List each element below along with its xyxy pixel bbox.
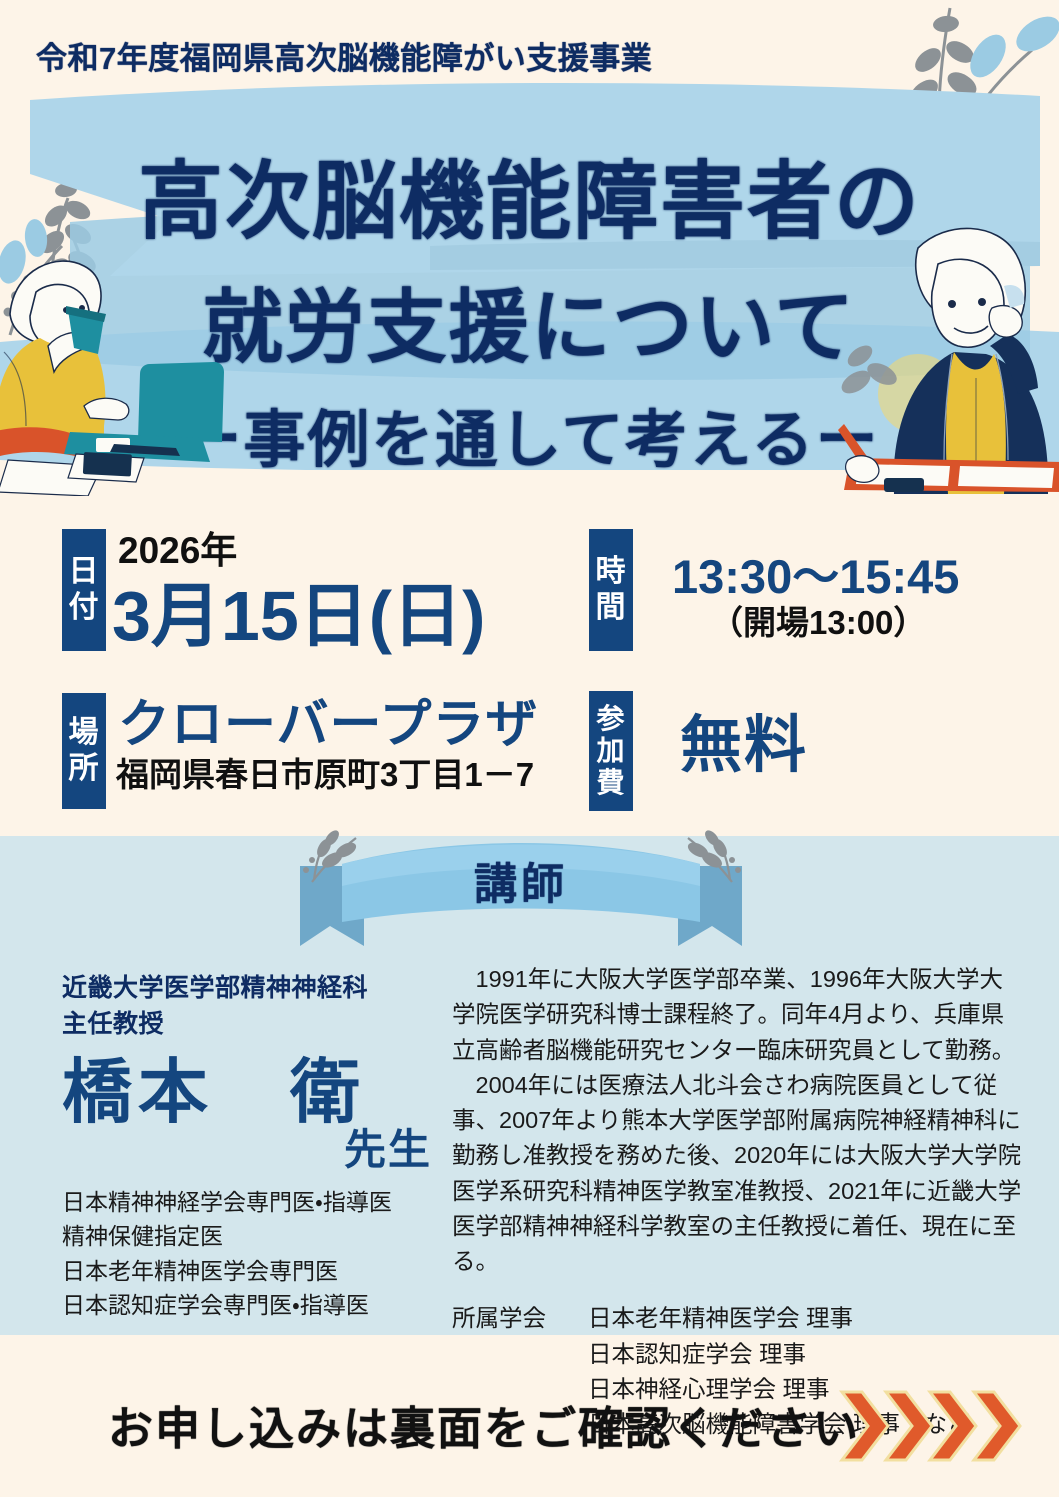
title-line-3: ー事例を通して考えるー	[0, 410, 1059, 472]
time-open: （開場13:00）	[710, 606, 926, 639]
poster-root: 令和7年度福岡県高次脳機能障がい支援事業 高次脳機能障害者の 就労支援について …	[0, 0, 1059, 1497]
date-tag: 日 付	[62, 529, 106, 651]
qualification-item: 日本認知症学会専門医・指導医	[62, 1288, 462, 1323]
lecturer-honorific: 先生	[62, 1129, 432, 1171]
qualification-item: 精神保健指定医	[62, 1219, 462, 1254]
title-line-2: 就労支援について	[0, 288, 1059, 368]
place-tag: 場 所	[62, 693, 106, 809]
time-tag-char-2: 間	[596, 593, 627, 623]
chevron-arrows-icon	[838, 1386, 1038, 1466]
lecturer-banner: 講師	[286, 828, 756, 968]
lecturer-name: 橋本 衛	[62, 1057, 462, 1127]
society-item: 日本認知症学会 理事	[588, 1337, 971, 1372]
lecturer-profile-left: 近畿大学医学部精神神経科 主任教授 橋本 衛 先生 日本精神神経学会専門医・指導…	[62, 970, 462, 1323]
lecturer-bio-paragraph: 1991年に大阪大学医学部卒業、1996年大阪大学大学院医学研究科博士課程終了。…	[452, 962, 1022, 1068]
place-tag-char-2: 所	[69, 754, 100, 784]
place-venue: クローバープラザ	[118, 699, 538, 751]
date-day: 3月15日(日)	[112, 581, 485, 651]
title-line-1: 高次脳機能障害者の	[0, 160, 1059, 245]
fee-tag-char-3: 費	[596, 769, 625, 797]
fee-tag: 参 加 費	[589, 691, 633, 811]
event-info-block: 日 付 2026年 3月15日(日) 時 間 13:30〜15:45 （開場13…	[0, 505, 1059, 825]
footer-cta-text: お申し込みは裏面をご確認ください	[108, 1392, 860, 1457]
lecturer-profile-right: 1991年に大阪大学医学部卒業、1996年大阪大学大学院医学研究科博士課程終了。…	[452, 962, 1022, 1442]
lecturer-banner-label: 講師	[286, 850, 756, 912]
qualification-item: 日本精神神経学会専門医・指導医	[62, 1185, 462, 1220]
place-address: 福岡県春日市原町3丁目1－7	[116, 758, 534, 791]
title-ribbon-group: 高次脳機能障害者の 就労支援について ー事例を通して考えるー	[0, 70, 1059, 470]
fee-tag-char-2: 加	[596, 737, 625, 765]
lecturer-bio-paragraph: 2004年には医療法人北斗会さわ病院医員として従事、2007年より熊本大学医学部…	[452, 1068, 1022, 1280]
lecturer-affiliation-line-2: 主任教授	[62, 1006, 462, 1042]
date-year: 2026年	[118, 532, 237, 569]
time-tag-char-1: 時	[596, 557, 627, 587]
footer-cta: お申し込みは裏面をご確認ください	[0, 1392, 1059, 1472]
place-tag-char-1: 場	[69, 718, 100, 748]
time-tag: 時 間	[589, 529, 633, 651]
fee-value: 無料	[680, 715, 808, 777]
date-tag-char-1: 日	[69, 557, 100, 587]
fee-tag-char-1: 参	[596, 705, 625, 733]
lecturer-qualifications-list: 日本精神神経学会専門医・指導医 精神保健指定医 日本老年精神医学会専門医 日本認…	[62, 1185, 462, 1323]
time-range: 13:30〜15:45	[672, 553, 959, 600]
lecturer-affiliation-line-1: 近畿大学医学部精神神経科	[62, 970, 462, 1006]
qualification-item: 日本老年精神医学会専門医	[62, 1254, 462, 1289]
society-item: 日本老年精神医学会 理事	[588, 1301, 971, 1336]
date-tag-char-2: 付	[69, 593, 100, 623]
